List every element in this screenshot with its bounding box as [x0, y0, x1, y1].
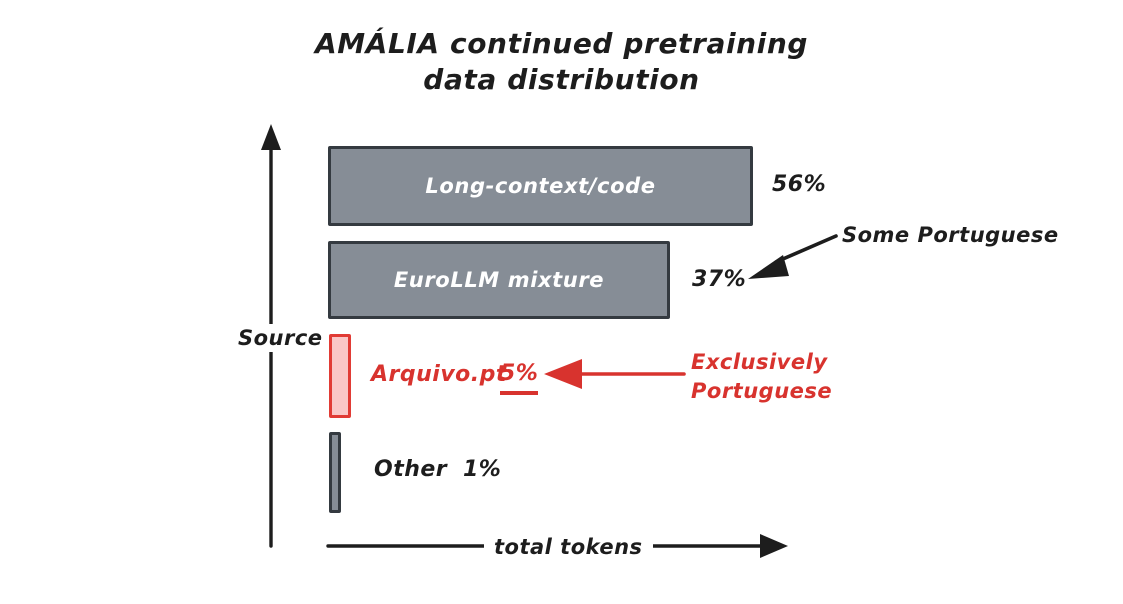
bar-label-long-context-code: Long-context/code [425, 174, 655, 198]
annotation-exclusively-portuguese: Exclusively Portuguese [691, 348, 832, 406]
bar-label-eurollm-mixture: EuroLLM mixture [394, 268, 604, 292]
bar-label-arquivo-pt: Arquivo.pt [371, 362, 507, 387]
chart-title: AMÁLIA continued pretraining data distri… [0, 26, 1123, 98]
exclusively-portuguese-arrow [544, 359, 684, 389]
bar-label-other: Other [374, 457, 447, 482]
bar-arquivo-pt[interactable] [329, 334, 351, 418]
chart-canvas: AMÁLIA continued pretraining data distri… [0, 0, 1123, 604]
bar-value-eurollm-mixture: 37% [692, 267, 746, 292]
bar-value-arquivo-pt: 5% [500, 361, 538, 395]
bar-value-long-context-code: 56% [772, 172, 826, 197]
y-axis-label: Source [232, 324, 329, 352]
chart-title-line-2: data distribution [0, 62, 1123, 98]
bar-long-context-code[interactable]: Long-context/code [328, 146, 753, 226]
bar-other[interactable] [329, 432, 341, 513]
bar-eurollm-mixture[interactable]: EuroLLM mixture [328, 241, 670, 319]
annotation-exclusively-portuguese-line-2: Portuguese [691, 377, 832, 406]
bar-value-other: 1% [463, 457, 501, 482]
some-portuguese-arrow [748, 236, 836, 279]
annotation-exclusively-portuguese-line-1: Exclusively [691, 348, 832, 377]
annotation-some-portuguese: Some Portuguese [842, 221, 1059, 250]
x-axis-label: total tokens [484, 534, 653, 560]
chart-title-line-1: AMÁLIA continued pretraining [0, 26, 1123, 62]
